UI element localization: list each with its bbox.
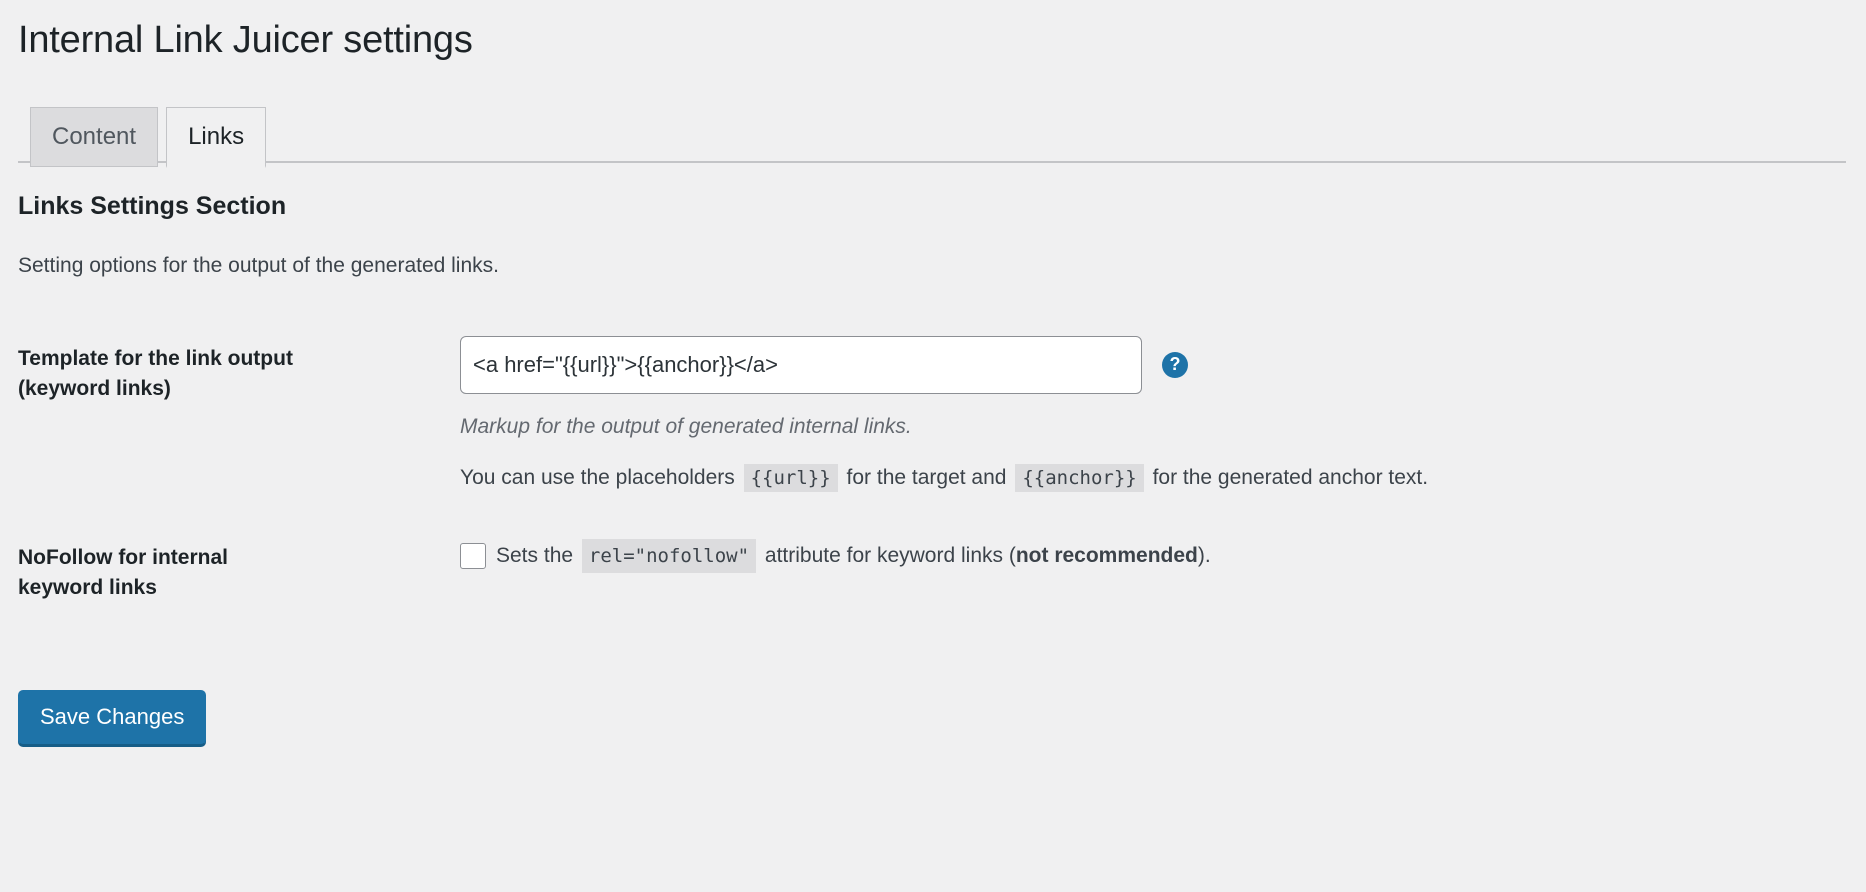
nofollow-checkbox-row[interactable]: Sets the rel="nofollow" attribute for ke… — [460, 535, 1836, 574]
nofollow-text-1: Sets the — [496, 540, 573, 572]
template-field-label: Template for the link output (keyword li… — [18, 316, 460, 515]
placeholder-code-anchor: {{anchor}} — [1015, 464, 1143, 492]
page-title: Internal Link Juicer settings — [18, 0, 1846, 65]
tab-content[interactable]: Content — [30, 107, 158, 167]
template-placeholder-hint: You can use the placeholders {{url}} for… — [460, 461, 1836, 495]
template-field-cell: ? Markup for the output of generated int… — [460, 316, 1846, 515]
placeholder-hint-text-1: You can use the placeholders — [460, 466, 735, 489]
nofollow-label-line1: NoFollow for internal — [18, 546, 228, 569]
nofollow-text-2: attribute for keyword links ( — [765, 540, 1016, 572]
nofollow-code-rel: rel="nofollow" — [582, 539, 756, 574]
section-heading: Links Settings Section — [18, 189, 1846, 224]
nofollow-field-label: NoFollow for internal keyword links — [18, 515, 460, 632]
template-label-line1: Template for the link output — [18, 347, 293, 370]
tab-links[interactable]: Links — [166, 107, 266, 168]
settings-page: Internal Link Juicer settings ContentLin… — [0, 0, 1866, 745]
nofollow-field-cell: Sets the rel="nofollow" attribute for ke… — [460, 515, 1846, 632]
nofollow-text-3: ). — [1198, 540, 1211, 572]
section-description: Setting options for the output of the ge… — [18, 250, 1846, 282]
nofollow-label-line2: keyword links — [18, 576, 157, 599]
nofollow-bold-note: not recommended — [1016, 540, 1198, 572]
template-input-row: ? — [460, 336, 1836, 394]
placeholder-hint-text-3: for the generated anchor text. — [1153, 466, 1429, 489]
tab-bar: ContentLinks — [18, 105, 1846, 163]
placeholder-code-url: {{url}} — [744, 464, 838, 492]
nofollow-checkbox[interactable] — [460, 543, 486, 569]
table-row-nofollow: NoFollow for internal keyword links Sets… — [18, 515, 1846, 632]
template-description: Markup for the output of generated inter… — [460, 412, 1836, 441]
submit-area: Save Changes — [18, 690, 1846, 745]
template-label-line2: (keyword links) — [18, 377, 171, 400]
save-changes-button[interactable]: Save Changes — [18, 690, 206, 745]
settings-form-table: Template for the link output (keyword li… — [18, 316, 1846, 632]
link-template-input[interactable] — [460, 336, 1142, 394]
placeholder-hint-text-2: for the target and — [847, 466, 1007, 489]
table-row-template: Template for the link output (keyword li… — [18, 316, 1846, 515]
question-mark-icon[interactable]: ? — [1162, 352, 1188, 378]
